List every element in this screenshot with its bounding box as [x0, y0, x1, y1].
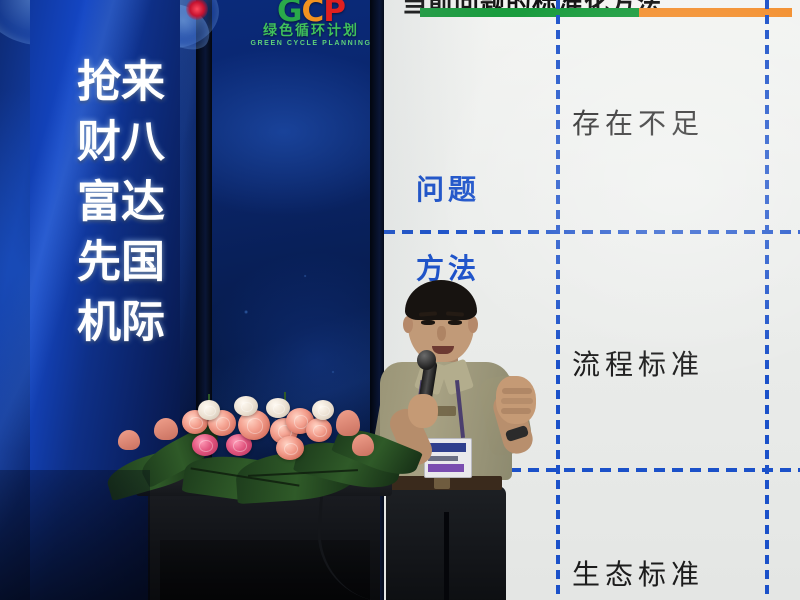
rose-flower — [312, 400, 334, 420]
speaker-eye-left — [421, 320, 435, 325]
speaker-nose — [437, 326, 446, 341]
rose-bud — [336, 410, 360, 436]
flower-arrangement — [130, 396, 402, 464]
rose-flower — [234, 396, 258, 416]
rose-flower — [276, 436, 304, 460]
grid-vline-2 — [765, 0, 769, 600]
stage-photo: 来八达国际 抢财富先机 GCP 绿色循环计划 GREEN CYCLE PLANN… — [0, 0, 800, 600]
rose-bud — [154, 418, 178, 440]
speaker-left-hand — [408, 394, 438, 428]
speaker-eye-right — [448, 320, 462, 325]
title-rule-green-segment — [420, 8, 639, 17]
rose-flower — [192, 434, 218, 456]
slide-cell-label: 流程标准 — [572, 343, 704, 383]
speaker-finger — [501, 408, 531, 414]
slide-cell-label: 生态标准 — [572, 553, 704, 593]
gcp-logo-chinese: 绿色循环计划 — [242, 24, 380, 39]
speaker-finger — [502, 388, 532, 394]
rose-flower — [306, 418, 332, 442]
rose-bud — [118, 430, 140, 450]
speaker-belt-buckle — [434, 477, 450, 489]
gcp-logo-english: GREEN CYCLE PLANNING — [242, 39, 380, 48]
speaker-leg-seam — [444, 512, 449, 600]
rose-bud — [352, 434, 374, 456]
slide-cell-label: 问题 — [416, 168, 480, 208]
title-rule-orange-segment — [639, 8, 792, 17]
grid-hline-1 — [384, 230, 800, 234]
slide-title-rule — [420, 8, 792, 17]
speaker-badge — [424, 438, 472, 478]
stage-floor-shadow — [0, 470, 150, 600]
rose-flower — [198, 400, 220, 420]
gcp-logo: GCP 绿色循环计划 GREEN CYCLE PLANNING — [242, 0, 380, 48]
speaker-finger — [501, 398, 533, 404]
speaker-hair — [405, 280, 477, 320]
badge-header-bar — [428, 443, 466, 452]
banner-vertical-text: 来八达国际 抢财富先机 — [80, 58, 160, 358]
gcp-logo-letters: GCP — [242, 0, 380, 24]
slide-cell-label: 存在不足 — [572, 102, 704, 142]
badge-line — [428, 464, 464, 472]
badge-line — [428, 456, 458, 461]
